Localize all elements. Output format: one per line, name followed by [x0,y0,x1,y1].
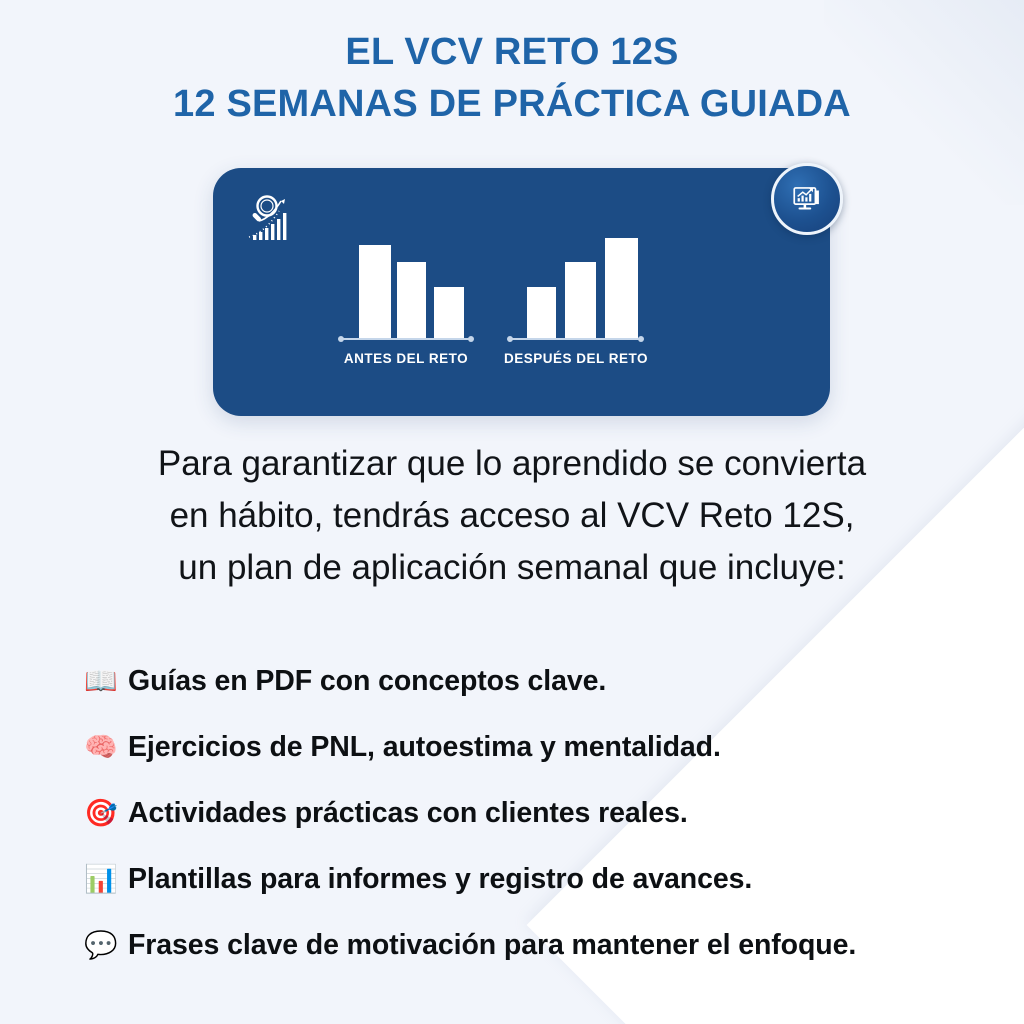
list-item: 🧠 Ejercicios de PNL, autoestima y mental… [84,714,1004,780]
group-label-despues: DESPUÉS DEL RETO [485,351,667,366]
brain-icon: 🧠 [84,734,128,761]
chart-card: ANTES DEL RETO DESPUÉS DEL RETO [213,168,830,416]
bar-antes-1 [359,245,391,338]
lead-line-3: un plan de aplicación semanal que incluy… [52,542,972,594]
group-label-antes: ANTES DEL RETO [320,351,492,366]
list-item: 🎯 Actividades prácticas con clientes rea… [84,780,1004,846]
list-item-label: Plantillas para informes y registro de a… [128,863,752,896]
comparison-bar-chart: ANTES DEL RETO DESPUÉS DEL RETO [213,168,830,416]
title-line-2: 12 SEMANAS DE PRÁCTICA GUIADA [0,78,1024,130]
bar-antes-2 [397,262,426,338]
list-item: 📊 Plantillas para informes y registro de… [84,846,1004,912]
list-item-label: Guías en PDF con conceptos clave. [128,665,606,698]
lead-line-2: en hábito, tendrás acceso al VCV Reto 12… [52,490,972,542]
list-item: 📖 Guías en PDF con conceptos clave. [84,648,1004,714]
benefits-list: 📖 Guías en PDF con conceptos clave. 🧠 Ej… [84,648,1004,978]
page-title: EL VCV RETO 12S 12 SEMANAS DE PRÁCTICA G… [0,26,1024,130]
infographic-slide: EL VCV RETO 12S 12 SEMANAS DE PRÁCTICA G… [0,0,1024,1024]
dart-target-icon: 🎯 [84,800,128,827]
bar-despues-2 [565,262,596,338]
bar-despues-1 [527,287,556,338]
lead-line-1: Para garantizar que lo aprendido se conv… [52,438,972,490]
lead-paragraph: Para garantizar que lo aprendido se conv… [52,438,972,594]
bar-despues-3 [605,238,638,338]
open-book-icon: 📖 [84,668,128,695]
title-line-1: EL VCV RETO 12S [0,26,1024,78]
bar-antes-3 [434,287,464,338]
list-item-label: Ejercicios de PNL, autoestima y mentalid… [128,731,721,764]
axis-antes [340,338,472,340]
list-item: 💬 Frases clave de motivación para manten… [84,912,1004,978]
speech-balloon-icon: 💬 [84,932,128,959]
list-item-label: Actividades prácticas con clientes reale… [128,797,688,830]
axis-despues [509,338,642,340]
list-item-label: Frases clave de motivación para mantener… [128,929,856,962]
bar-chart-icon: 📊 [84,866,128,893]
